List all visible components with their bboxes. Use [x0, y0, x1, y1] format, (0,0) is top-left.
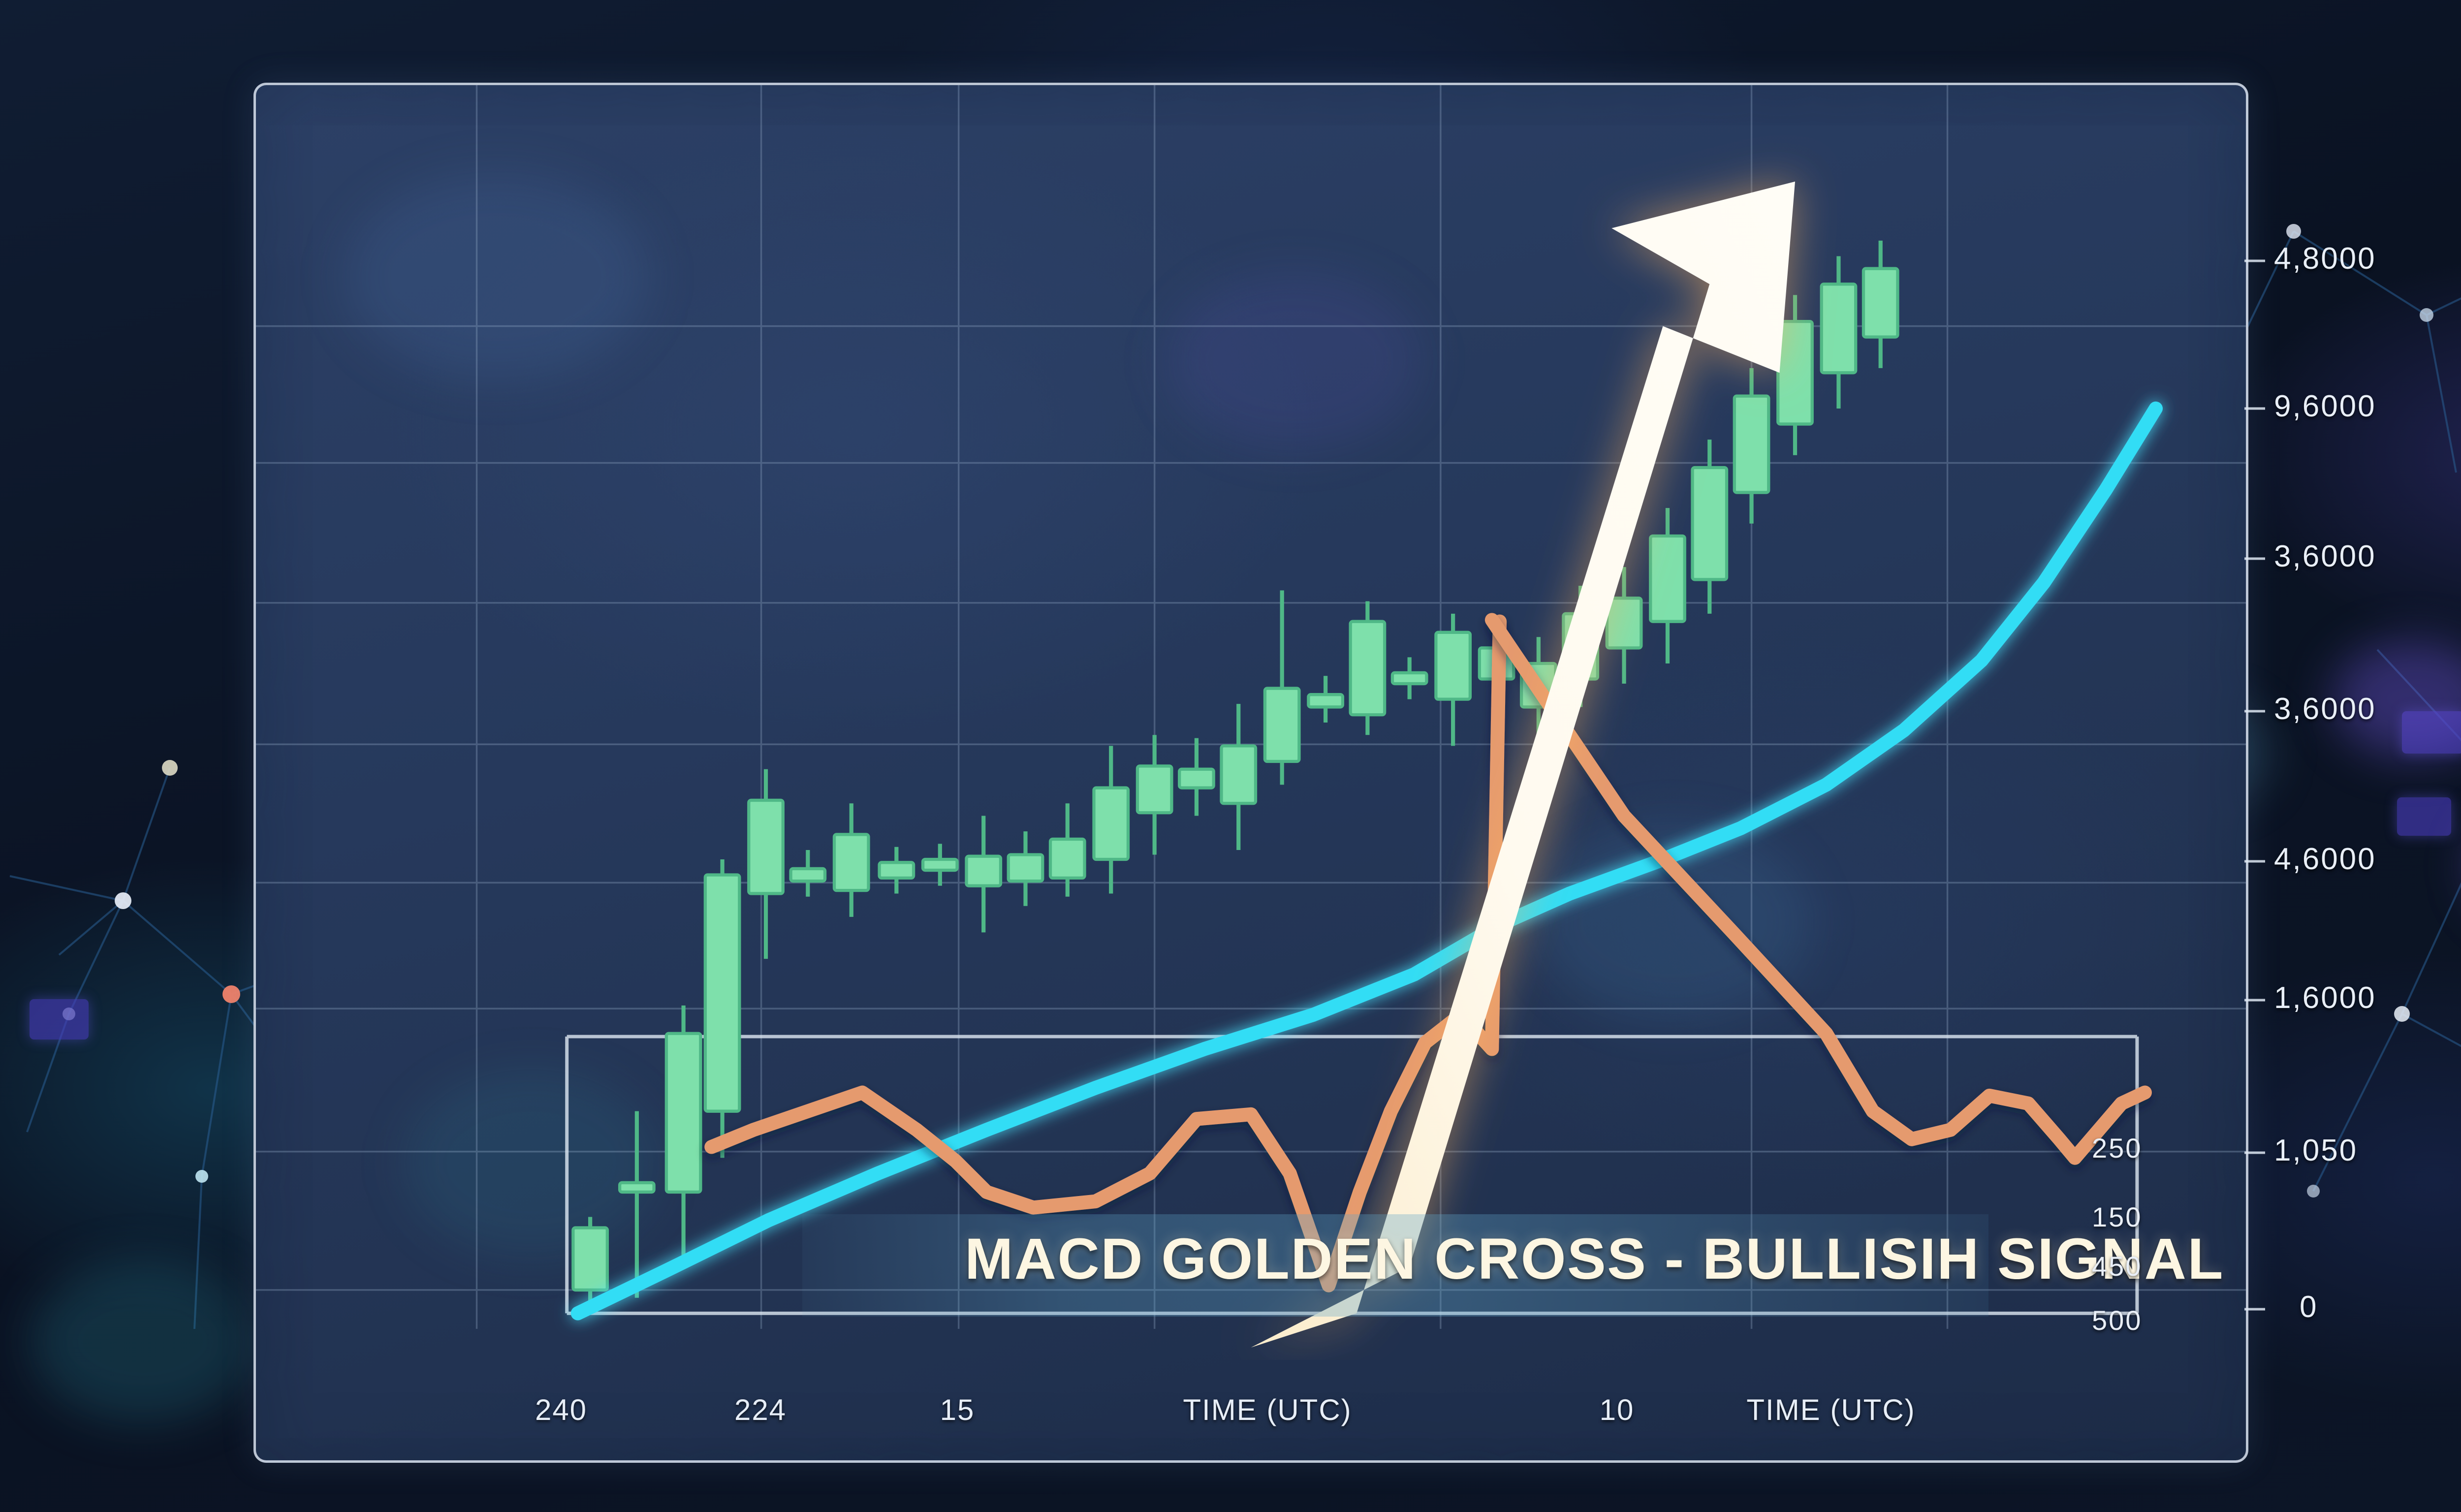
- macd-tick-label: 150: [2092, 1201, 2142, 1233]
- price-axis-ticks: [2244, 0, 2289, 1512]
- price-tick-label: 0: [2300, 1290, 2318, 1324]
- macd-signal-line: [711, 622, 1499, 1286]
- network-badge-icon: [2402, 711, 2461, 754]
- time-axis-label: TIME (UTC): [1746, 1393, 1915, 1427]
- candle-body[interactable]: [1137, 766, 1171, 813]
- candle-body[interactable]: [1308, 694, 1342, 707]
- candle-body[interactable]: [620, 1183, 654, 1192]
- time-axis-label: TIME (UTC): [1183, 1393, 1352, 1427]
- price-tick-label: 3,6000: [2274, 539, 2376, 574]
- candle-body[interactable]: [1265, 689, 1299, 761]
- price-tick-label: 1,6000: [2274, 980, 2376, 1015]
- price-tick-label: 9,6000: [2274, 389, 2376, 424]
- candle-body[interactable]: [573, 1228, 607, 1290]
- macd-tick-label: 450: [2092, 1250, 2142, 1282]
- chart-panel[interactable]: MACD GOLDEN CROSS - BULLISIH SIGNAL: [253, 83, 2248, 1463]
- candle-body[interactable]: [1009, 855, 1042, 882]
- candle-body[interactable]: [705, 875, 739, 1111]
- candle-body[interactable]: [791, 869, 825, 881]
- time-tick-label: 10: [1600, 1393, 1635, 1427]
- chart-gridlines: [256, 85, 2246, 1329]
- candle-body[interactable]: [1436, 632, 1470, 699]
- candle-body[interactable]: [1179, 769, 1213, 788]
- time-tick-label: 240: [535, 1393, 587, 1427]
- candle-body[interactable]: [923, 859, 957, 870]
- candle-body[interactable]: [749, 800, 783, 894]
- candle-body[interactable]: [966, 856, 1000, 886]
- candle-body[interactable]: [1392, 673, 1426, 684]
- price-tick-label: 4,6000: [2274, 842, 2376, 877]
- candle-body[interactable]: [666, 1034, 700, 1192]
- time-tick-label: 15: [940, 1393, 975, 1427]
- candle-body[interactable]: [880, 862, 914, 878]
- price-tick-label: 3,6000: [2274, 692, 2376, 726]
- candle-body[interactable]: [1094, 788, 1128, 859]
- time-tick-label: 224: [734, 1393, 787, 1427]
- candle-body[interactable]: [1863, 269, 1897, 337]
- candle-body[interactable]: [1351, 622, 1385, 715]
- network-badge-icon: [30, 999, 89, 1039]
- candle-body[interactable]: [1778, 321, 1812, 424]
- candle-body[interactable]: [834, 834, 868, 890]
- candle-body[interactable]: [1050, 839, 1084, 878]
- price-tick-label: 4,8000: [2274, 241, 2376, 276]
- macd-tick-label: 500: [2092, 1304, 2142, 1336]
- candle-body[interactable]: [1221, 746, 1255, 803]
- signal-banner-text: MACD GOLDEN CROSS - BULLISIH SIGNAL: [965, 1212, 2048, 1306]
- candle-body[interactable]: [1735, 396, 1768, 493]
- macd-tick-label: 250: [2092, 1132, 2142, 1164]
- chart-plot-area[interactable]: [256, 85, 2246, 1360]
- network-badge-icon: [2397, 797, 2451, 836]
- bullish-arrow-icon: [1251, 182, 1839, 1357]
